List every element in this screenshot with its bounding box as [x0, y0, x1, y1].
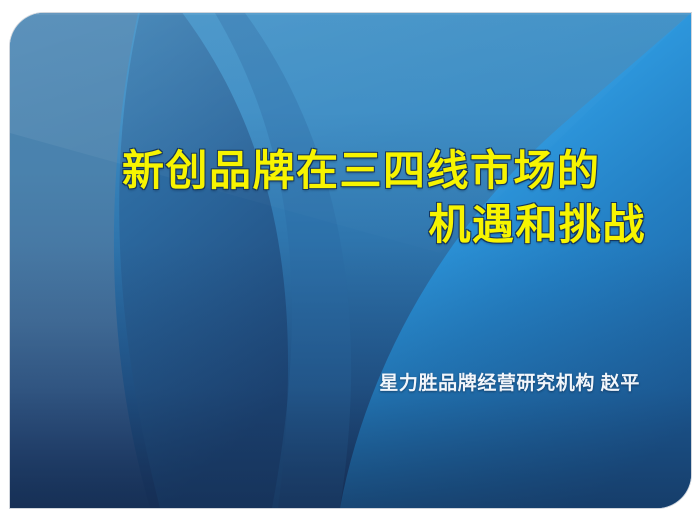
- slide-canvas: 新创品牌在三四线市场的 机遇和挑战 星力胜品牌经营研究机构 赵平: [10, 13, 691, 508]
- slide-text-layer: 新创品牌在三四线市场的 机遇和挑战 星力胜品牌经营研究机构 赵平: [10, 13, 691, 508]
- slide-subtitle[interactable]: 星力胜品牌经营研究机构 赵平: [50, 371, 640, 397]
- slide-title[interactable]: 新创品牌在三四线市场的 机遇和挑战: [50, 144, 646, 252]
- slide-frame: 新创品牌在三四线市场的 机遇和挑战 星力胜品牌经营研究机构 赵平: [0, 0, 700, 525]
- title-line-2: 机遇和挑战: [50, 198, 646, 252]
- subtitle-text: 星力胜品牌经营研究机构 赵平: [379, 371, 640, 397]
- title-line-1: 新创品牌在三四线市场的: [50, 144, 646, 198]
